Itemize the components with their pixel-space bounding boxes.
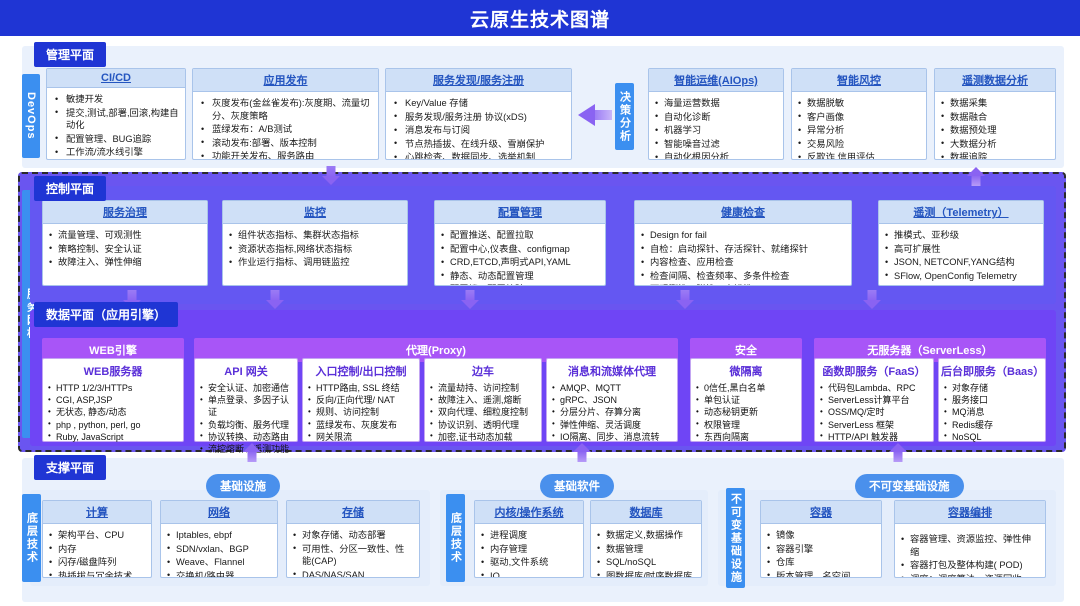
list-item: MQ消息 (944, 406, 1040, 418)
card-app-release: 应用发布 灰度发布(金丝雀发布):灰度期、流量切分、灰度策略 蓝绿发布：A/B测… (192, 68, 379, 160)
list-item: SQL/noSQL (597, 556, 695, 569)
card-telemetry-data-analysis: 遥测数据分析 数据采集 数据融合 数据预处理 大数据分析 数据追踪 (934, 68, 1056, 160)
list-item: 作业运行指标、调用链监控 (229, 256, 401, 269)
plane-tag-management: 管理平面 (34, 42, 106, 67)
list-item: 流量管理、可观测性 (49, 229, 201, 242)
arrow-up-icon (888, 440, 908, 462)
list-item: 交易风险 (798, 138, 920, 151)
list-item: HTTP 1/2/3/HTTPs (48, 382, 178, 394)
pill-tag-basic-software: 基础软件 (540, 474, 614, 498)
list-item: 策略控制、安全认证 (49, 243, 201, 256)
card-title: 遥测数据分析 (935, 69, 1055, 92)
card-title: 配置管理 (435, 201, 605, 224)
list-item: 流量劫持、访问控制 (430, 382, 536, 394)
list-item: 镜像 (767, 529, 875, 542)
card-baas: 后台即服务（Baas） 对象存储 服务接口 MQ消息 Redis缓存 NoSQL (938, 358, 1046, 442)
list-item: 推模式、亚秒级 (885, 229, 1037, 242)
list-item: 智能噪音过滤 (655, 138, 777, 151)
list-item: 故障注入、弹性伸缩 (49, 256, 201, 269)
card-service-discovery: 服务发现/服务注册 Key/Value 存储 服务发现/服务注册 协议(xDS)… (385, 68, 572, 160)
list-item: 调度：调度算法、资源回收 (901, 573, 1039, 578)
list-item: Iptables, ebpf (167, 529, 271, 542)
list-item: JSON, NETCONF,YANG结构 (885, 256, 1037, 269)
list-item: 闪存/磁盘阵列 (49, 556, 145, 569)
list-item: Key/Value 存储 (392, 97, 565, 110)
card-storage: 存储 对象存储、动态部署 可用性、分区一致性、性能(CAP) DAS/NAS/S… (286, 500, 420, 578)
page-title: 云原生技术图谱 (470, 5, 610, 32)
list-item: 敏捷开发 (53, 93, 179, 106)
list-item: 客户画像 (798, 111, 920, 124)
card-aiops: 智能运维(AIOps) 海量运营数据 自动化诊断 机器学习 智能噪音过滤 自动化… (648, 68, 784, 160)
list-item: 数据脱敏 (798, 97, 920, 110)
plane-tag-data: 数据平面（应用引擎） (34, 302, 178, 327)
list-item: IO (481, 570, 577, 578)
card-cicd: CI/CD 敏捷开发 提交,测试,部署,回滚,构建自动化 配置管理、BUG追踪 … (46, 68, 186, 160)
list-item: 协议识别、透明代理 (430, 419, 536, 431)
arrow-up-icon (572, 440, 592, 462)
list-item: 节点热插拔、在线升级、雪崩保护 (392, 138, 565, 151)
list-item: ServerLess 框架 (820, 419, 928, 431)
rail-underlying-tech-left: 底层技术 (22, 494, 41, 582)
card-title: 计算 (43, 501, 151, 524)
list-item: 内容检查、应用检查 (641, 256, 845, 269)
list-item: 工作流/流水线引擎 (53, 146, 179, 159)
list-item: 消息发布与订阅 (392, 124, 565, 137)
card-title: 健康检查 (635, 201, 851, 224)
list-item: 功能开关发布、服务路由 (199, 150, 372, 160)
list-item: 数据定义,数据操作 (597, 529, 695, 542)
title-bar: 云原生技术图谱 (0, 0, 1080, 36)
list-item: 自动化诊断 (655, 111, 777, 124)
list-item: SDN/vxlan、BGP (167, 543, 271, 556)
list-item: 负载均衡、服务代理 (200, 419, 292, 431)
list-item: 高可扩展性 (885, 243, 1037, 256)
plane-tag-support: 支撑平面 (34, 455, 106, 480)
card-message-stream-proxy: 消息和流媒体代理 AMQP、MQTT gRPC、JSON 分层分片、存算分离 弹… (546, 358, 678, 442)
list-item: IO隔离、同步、消息流转 (552, 431, 672, 443)
card-title: 服务发现/服务注册 (386, 69, 571, 92)
list-item: 网关限流 (308, 431, 414, 443)
list-item: 自动化根因分析 (655, 151, 777, 160)
list-item: 交换机/路由器 (167, 570, 271, 578)
card-api-gateway: API 网关 安全认证、加密通信 单点登录、多因子认证 负载均衡、服务代理 协议… (194, 358, 298, 442)
card-title: 遥测（Telemetry） (879, 201, 1043, 224)
rail-underlying-tech-mid: 底层技术 (446, 494, 465, 582)
list-item: 灰度发布(金丝雀发布):灰度期、流量切分、灰度策略 (199, 97, 372, 122)
list-item: 代码包Lambda、RPC (820, 382, 928, 394)
list-item: Design for fail (641, 229, 845, 242)
list-item: 版本管理、名空间 (767, 570, 875, 578)
list-item: 蓝绿发布：A/B测试 (199, 123, 372, 136)
card-title: 容器编排 (895, 501, 1045, 524)
card-monitoring: 监控 组件状态指标、集群状态指标 资源状态指标,网络状态指标 作业运行指标、调用… (222, 200, 408, 286)
list-item: 服务接口 (944, 394, 1040, 406)
card-title: 函数即服务（FaaS） (815, 359, 933, 381)
card-title: 监控 (223, 201, 407, 224)
card-title: 数据库 (591, 501, 701, 524)
card-micro-segmentation: 微隔离 0信任,黑白名单 单包认证 动态秘钥更新 权限管理 东西向隔离 (690, 358, 802, 442)
cloud-native-tech-map: 云原生技术图谱 管理平面 DevOps CI/CD 敏捷开发 提交,测试,部署,… (0, 0, 1080, 606)
card-health-check: 健康检查 Design for fail 自检：启动探针、存活探针、就绪探针 内… (634, 200, 852, 286)
rail-devops: DevOps (22, 74, 40, 158)
list-item: 动态秘钥更新 (696, 406, 796, 418)
list-item: OSS/MQ/定时 (820, 406, 928, 418)
card-faas: 函数即服务（FaaS） 代码包Lambda、RPC ServerLess计算平台… (814, 358, 934, 442)
list-item: 资源状态指标,网络状态指标 (229, 243, 401, 256)
card-title: 应用发布 (193, 69, 378, 92)
pill-tag-immutable-infrastructure: 不可变基础设施 (855, 474, 964, 498)
card-config-management: 配置管理 配置推送、配置拉取 配置中心,仪表盘、configmap CRD,ET… (434, 200, 606, 286)
list-item: 故障注入、遥测,熔断 (430, 394, 536, 406)
list-item: 分层分片、存算分离 (552, 406, 672, 418)
list-item: 双向代理、细粒度控制 (430, 406, 536, 418)
card-title: 网络 (161, 501, 277, 524)
list-item: Redis缓存 (944, 419, 1040, 431)
list-item: 静态、动态配置管理 (441, 270, 599, 283)
list-item: 反欺诈,信用评估 (798, 151, 920, 160)
card-service-governance: 服务治理 流量管理、可观测性 策略控制、安全认证 故障注入、弹性伸缩 (42, 200, 208, 286)
list-item: 配置管理、BUG追踪 (53, 133, 179, 146)
list-item: 内存 (49, 543, 145, 556)
list-item: 架构平台、CPU (49, 529, 145, 542)
list-item: CRD,ETCD,声明式API,YAML (441, 256, 599, 269)
list-item: 机器学习 (655, 124, 777, 137)
list-item: 热插拔与冗余技术 (49, 570, 145, 578)
list-item: 弹性伸缩、灵活调度 (552, 419, 672, 431)
card-container-orchestration: 容器编排 容器管理、资源监控、弹性伸缩 容器打包及整体构建( POD) 调度：调… (894, 500, 1046, 578)
list-item: 数据融合 (941, 111, 1049, 124)
list-item: 反向/正向代理/ NAT (308, 394, 414, 406)
arrow-down-icon (265, 290, 285, 310)
card-title: 容器 (761, 501, 881, 524)
card-title: 后台即服务（Baas） (939, 359, 1045, 381)
list-item: 配置锁、配置校验 (441, 283, 599, 286)
list-item: 可用性、分区一致性、性能(CAP) (293, 543, 413, 568)
list-item: 容器打包及整体构建( POD) (901, 559, 1039, 572)
card-title: CI/CD (47, 69, 185, 88)
card-network: 网络 Iptables, ebpf SDN/vxlan、BGP Weave、Fl… (160, 500, 278, 578)
card-telemetry: 遥测（Telemetry） 推模式、亚秒级 高可扩展性 JSON, NETCON… (878, 200, 1044, 286)
arrow-down-icon (460, 290, 480, 310)
pill-tag-infrastructure: 基础设施 (206, 474, 280, 498)
list-item: gRPC、JSON (552, 394, 672, 406)
list-item: 仓库 (767, 556, 875, 569)
list-item: 驱动,文件系统 (481, 556, 577, 569)
card-title: 存储 (287, 501, 419, 524)
arrow-left-icon (578, 104, 612, 126)
list-item: CGI, ASP,JSP (48, 394, 178, 406)
list-item: 数据追踪 (941, 151, 1049, 160)
list-item: 单包认证 (696, 394, 796, 406)
list-item: 数据管理 (597, 543, 695, 556)
card-title: 入口控制/出口控制 (303, 359, 419, 381)
card-title: API 网关 (195, 359, 297, 381)
list-item: Ruby, JavaScript (48, 431, 178, 443)
list-item: 海量运营数据 (655, 97, 777, 110)
card-database: 数据库 数据定义,数据操作 数据管理 SQL/noSQL 图数据库/时序数据库 (590, 500, 702, 578)
list-item: ServerLess计算平台 (820, 394, 928, 406)
list-item: 进程调度 (481, 529, 577, 542)
list-item: 异常分析 (798, 124, 920, 137)
list-item: NoSQL (944, 431, 1040, 443)
list-item: 权限管理 (696, 419, 796, 431)
card-title: 智能风控 (792, 69, 926, 92)
list-item: 图数据库/时序数据库 (597, 570, 695, 578)
card-ingress-egress-control: 入口控制/出口控制 HTTP路由, SSL 终结 反向/正向代理/ NAT 规则… (302, 358, 420, 442)
list-item: 加密,证书动态加载 (430, 431, 536, 443)
card-title: 服务治理 (43, 201, 207, 224)
list-item: SFlow, OpenConfig Telemetry (885, 270, 1037, 283)
list-item: 心跳检查、数据同步、选举机制 (392, 151, 565, 160)
list-item: 单点登录、多因子认证 (200, 394, 292, 418)
card-title: 边车 (425, 359, 541, 381)
card-web-server: WEB服务器 HTTP 1/2/3/HTTPs CGI, ASP,JSP 无状态… (42, 358, 184, 442)
card-kernel-os: 内核/操作系统 进程调度 内存管理 驱动,文件系统 IO (474, 500, 584, 578)
list-item: 自检：启动探针、存活探针、就绪探针 (641, 243, 845, 256)
list-item: 安全认证、加密通信 (200, 382, 292, 394)
card-intelligent-risk-control: 智能风控 数据脱敏 客户画像 异常分析 交易风险 反欺诈,信用评估 (791, 68, 927, 160)
list-item: 东西向隔离 (696, 431, 796, 443)
list-item: 可观测性、弹性、容错性 (641, 283, 845, 286)
list-item: 对象存储、动态部署 (293, 529, 413, 542)
card-title: 智能运维(AIOps) (649, 69, 783, 92)
rail-immutable-infra: 不可变基础设施 (726, 488, 745, 588)
list-item: 提交,测试,部署,回滚,构建自动化 (53, 107, 179, 132)
list-item: 大数据分析 (941, 138, 1049, 151)
list-item: 蓝绿发布、灰度发布 (308, 419, 414, 431)
arrow-down-icon (321, 166, 341, 186)
list-item: 0信任,黑白名单 (696, 382, 796, 394)
list-item: 检查间隔、检查频率、多条件检查 (641, 270, 845, 283)
list-item: HTTP路由, SSL 终结 (308, 382, 414, 394)
list-item: 数据预处理 (941, 124, 1049, 137)
list-item: 无状态, 静态/动态 (48, 406, 178, 418)
list-item: 规则、访问控制 (308, 406, 414, 418)
arrow-down-icon (675, 290, 695, 310)
list-item: DAS/NAS/SAN (293, 569, 413, 578)
list-item: 配置中心,仪表盘、configmap (441, 243, 599, 256)
list-item: 对象存储 (944, 382, 1040, 394)
list-item: 数据采集 (941, 97, 1049, 110)
card-sidecar: 边车 流量劫持、访问控制 故障注入、遥测,熔断 双向代理、细粒度控制 协议识别、… (424, 358, 542, 442)
card-container: 容器 镜像 容器引擎 仓库 版本管理、名空间 (760, 500, 882, 578)
list-item: 滚动发布:部署、版本控制 (199, 137, 372, 150)
card-title: WEB服务器 (43, 359, 183, 381)
list-item: php , python, perl, go (48, 419, 178, 431)
list-item: 配置推送、配置拉取 (441, 229, 599, 242)
list-item: HTTP/API 触发器 (820, 431, 928, 443)
list-item: 内存管理 (481, 543, 577, 556)
list-item: AMQP、MQTT (552, 382, 672, 394)
list-item: 容器引擎 (767, 543, 875, 556)
card-compute: 计算 架构平台、CPU 内存 闪存/磁盘阵列 热插拔与冗余技术 (42, 500, 152, 578)
plane-tag-control: 控制平面 (34, 176, 106, 201)
card-title: 微隔离 (691, 359, 801, 381)
list-item: 组件状态指标、集群状态指标 (229, 229, 401, 242)
rail-decision-analysis: 决策分析 (615, 83, 634, 150)
list-item: 容器管理、资源监控、弹性伸缩 (901, 533, 1039, 558)
arrow-up-icon (242, 440, 262, 462)
arrow-down-icon (862, 290, 882, 310)
card-title: 消息和流媒体代理 (547, 359, 677, 381)
card-title: 内核/操作系统 (475, 501, 583, 524)
list-item: 服务发现/服务注册 协议(xDS) (392, 111, 565, 124)
list-item: Weave、Flannel (167, 556, 271, 569)
arrow-up-icon (966, 166, 986, 186)
